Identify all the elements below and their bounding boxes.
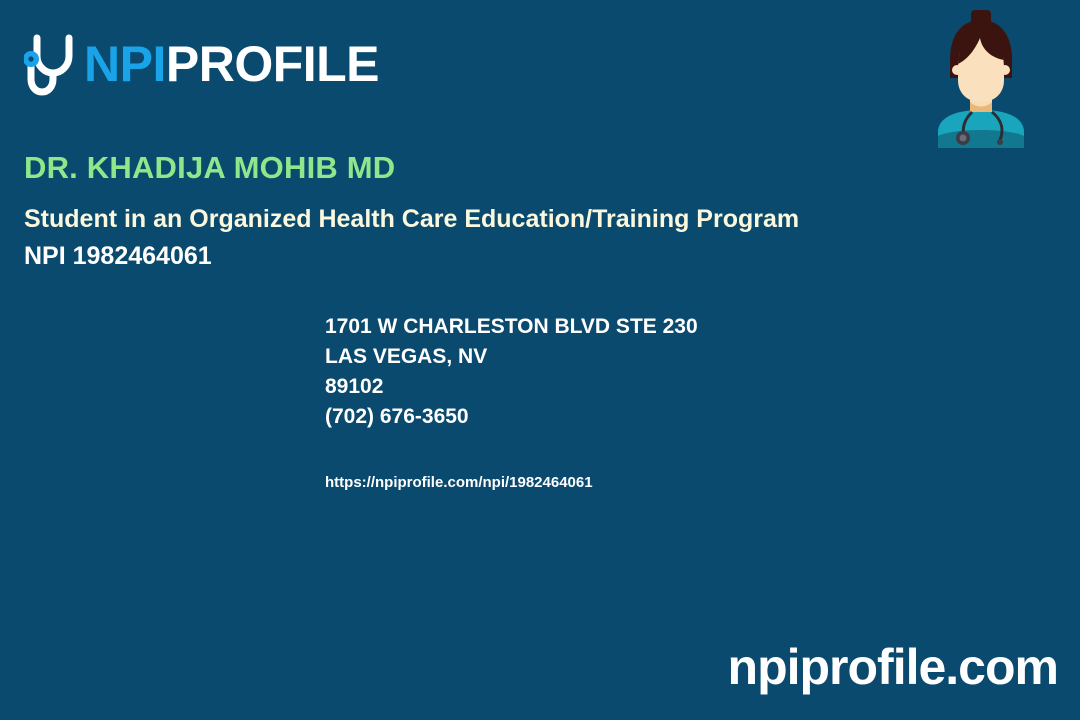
phone-number[interactable]: (702) 676-3650 (325, 402, 698, 432)
npi-profile-card: NPIPROFILE DR. KHADIJA MOHIB MD Student … (0, 0, 1080, 720)
npi-number: NPI 1982464061 (24, 242, 212, 271)
profile-url-link[interactable]: https://npiprofile.com/npi/1982464061 (325, 474, 593, 491)
logo-profile-text: PROFILE (166, 36, 379, 92)
provider-taxonomy: Student in an Organized Health Care Educ… (24, 205, 799, 234)
address-line1: 1701 W CHARLESTON BLVD STE 230 (325, 312, 698, 342)
address-line2: LAS VEGAS, NV (325, 342, 698, 372)
address-block: 1701 W CHARLESTON BLVD STE 230 LAS VEGAS… (325, 312, 698, 432)
address-zip: 89102 (325, 372, 698, 402)
footer-brand: npiprofile.com (728, 638, 1058, 696)
logo-wordmark: NPIPROFILE (84, 39, 379, 89)
site-logo[interactable]: NPIPROFILE (24, 28, 379, 100)
stethoscope-icon (24, 32, 82, 96)
doctor-avatar (936, 8, 1026, 148)
logo-npi-text: NPI (84, 36, 166, 92)
page-title: DR. KHADIJA MOHIB MD (24, 150, 395, 186)
